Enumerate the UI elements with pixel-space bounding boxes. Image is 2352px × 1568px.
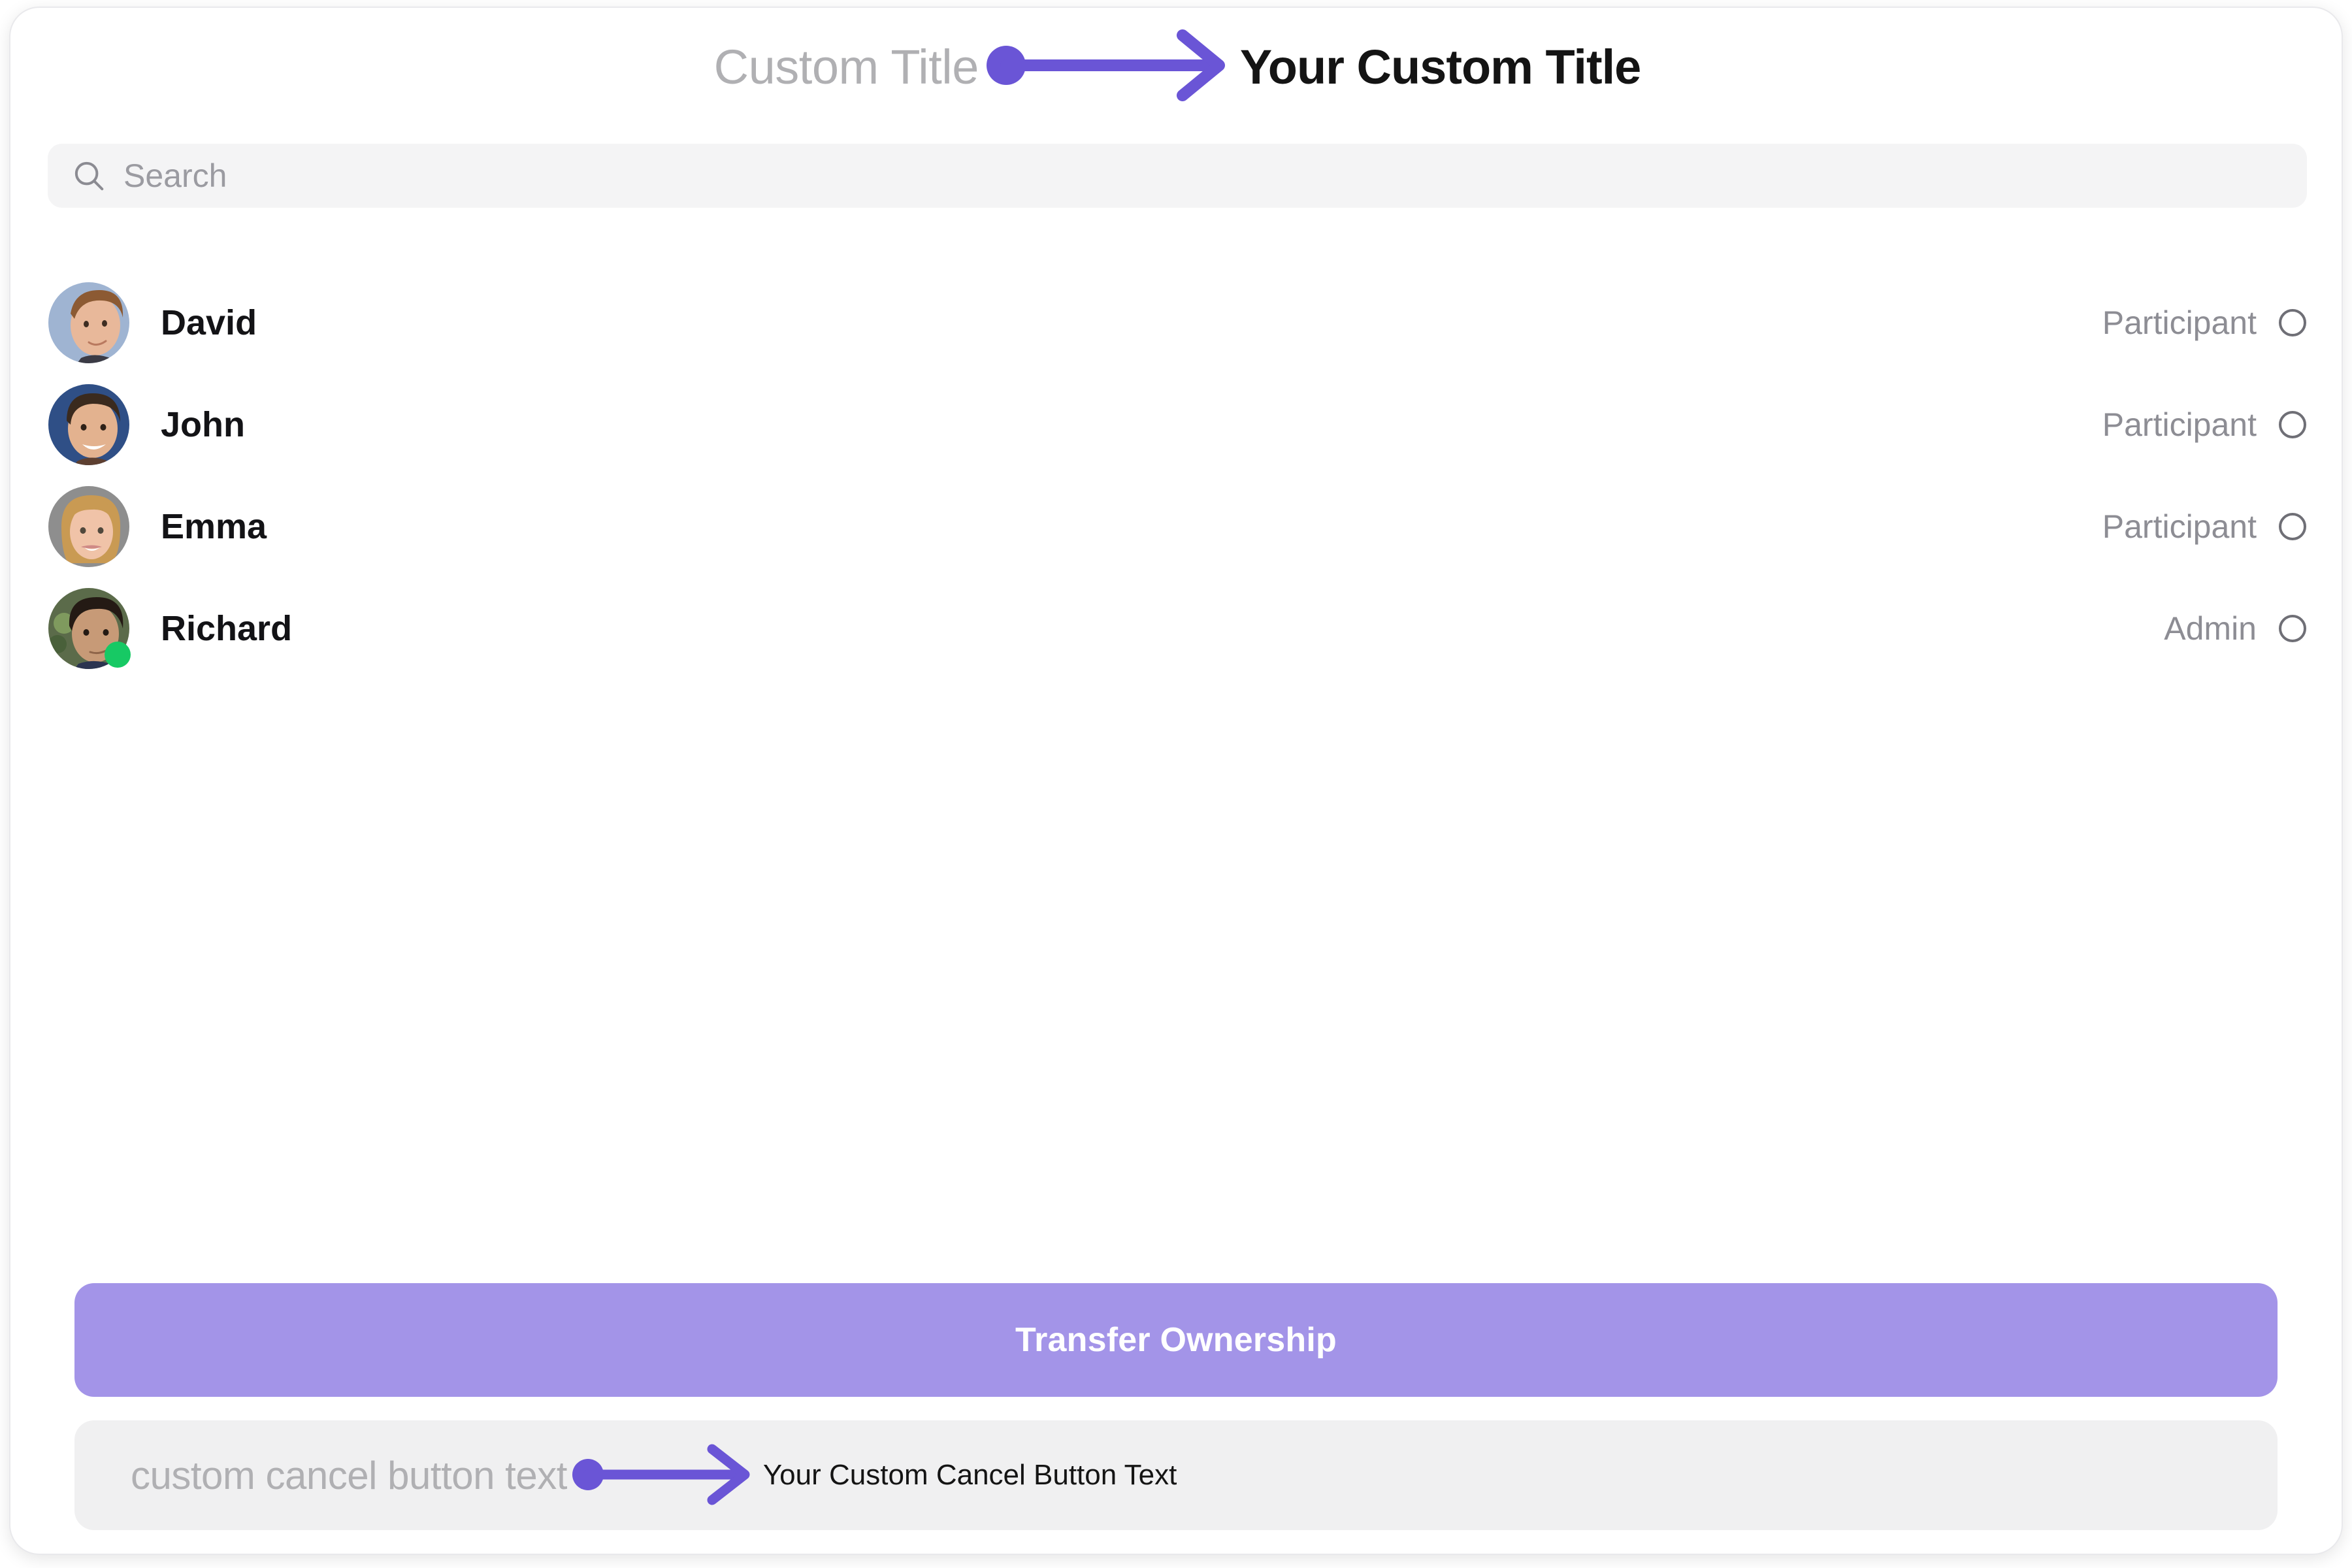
- member-row-david[interactable]: David Participant: [10, 272, 2343, 374]
- member-name: Emma: [161, 506, 267, 547]
- avatar-wrap: [48, 282, 129, 363]
- member-role: Admin: [2164, 610, 2257, 647]
- member-role: Participant: [2102, 508, 2257, 546]
- transfer-ownership-modal: Custom Title Your Custom Title Search: [9, 7, 2343, 1555]
- transfer-ownership-button[interactable]: Transfer Ownership: [74, 1283, 2278, 1397]
- annotation-arrow-cancel: [567, 1439, 763, 1512]
- header: Custom Title Your Custom Title: [10, 27, 2343, 106]
- cancel-button[interactable]: custom cancel button text Your Custom Ca…: [74, 1420, 2278, 1530]
- member-row-emma[interactable]: Emma Participant: [10, 476, 2343, 578]
- member-name: John: [161, 404, 245, 445]
- avatar-wrap: [48, 384, 129, 465]
- avatar-david: [48, 282, 129, 363]
- member-row-right: Participant: [2102, 406, 2306, 444]
- member-name: Richard: [161, 608, 292, 649]
- member-role: Participant: [2102, 304, 2257, 342]
- member-select-radio[interactable]: [2279, 309, 2306, 336]
- avatar-wrap: [48, 486, 129, 567]
- member-row-right: Participant: [2102, 508, 2306, 546]
- cancel-ghost-label: custom cancel button text: [131, 1453, 567, 1498]
- annotation-arrow-title: [979, 26, 1240, 108]
- member-row-john[interactable]: John Participant: [10, 374, 2343, 476]
- search-bar[interactable]: Search: [48, 144, 2307, 208]
- member-name: David: [161, 302, 257, 343]
- member-list: David Participant: [10, 272, 2343, 679]
- cancel-custom-label: Your Custom Cancel Button Text: [763, 1459, 1177, 1492]
- avatar-emma: [48, 486, 129, 567]
- transfer-ownership-label: Transfer Ownership: [1015, 1320, 1337, 1360]
- search-input[interactable]: Search: [123, 157, 227, 195]
- avatar-john: [48, 384, 129, 465]
- page-title: Your Custom Title: [1240, 39, 1641, 95]
- member-role: Participant: [2102, 406, 2257, 444]
- member-select-radio[interactable]: [2279, 411, 2306, 438]
- member-row-right: Admin: [2164, 610, 2306, 647]
- member-row-richard[interactable]: Richard Admin: [10, 578, 2343, 679]
- title-ghost-label: Custom Title: [714, 39, 979, 95]
- avatar-wrap: [48, 588, 129, 669]
- member-select-radio[interactable]: [2279, 513, 2306, 540]
- search-icon: [71, 158, 106, 193]
- online-status-dot: [105, 642, 131, 668]
- member-select-radio[interactable]: [2279, 615, 2306, 642]
- member-row-right: Participant: [2102, 304, 2306, 342]
